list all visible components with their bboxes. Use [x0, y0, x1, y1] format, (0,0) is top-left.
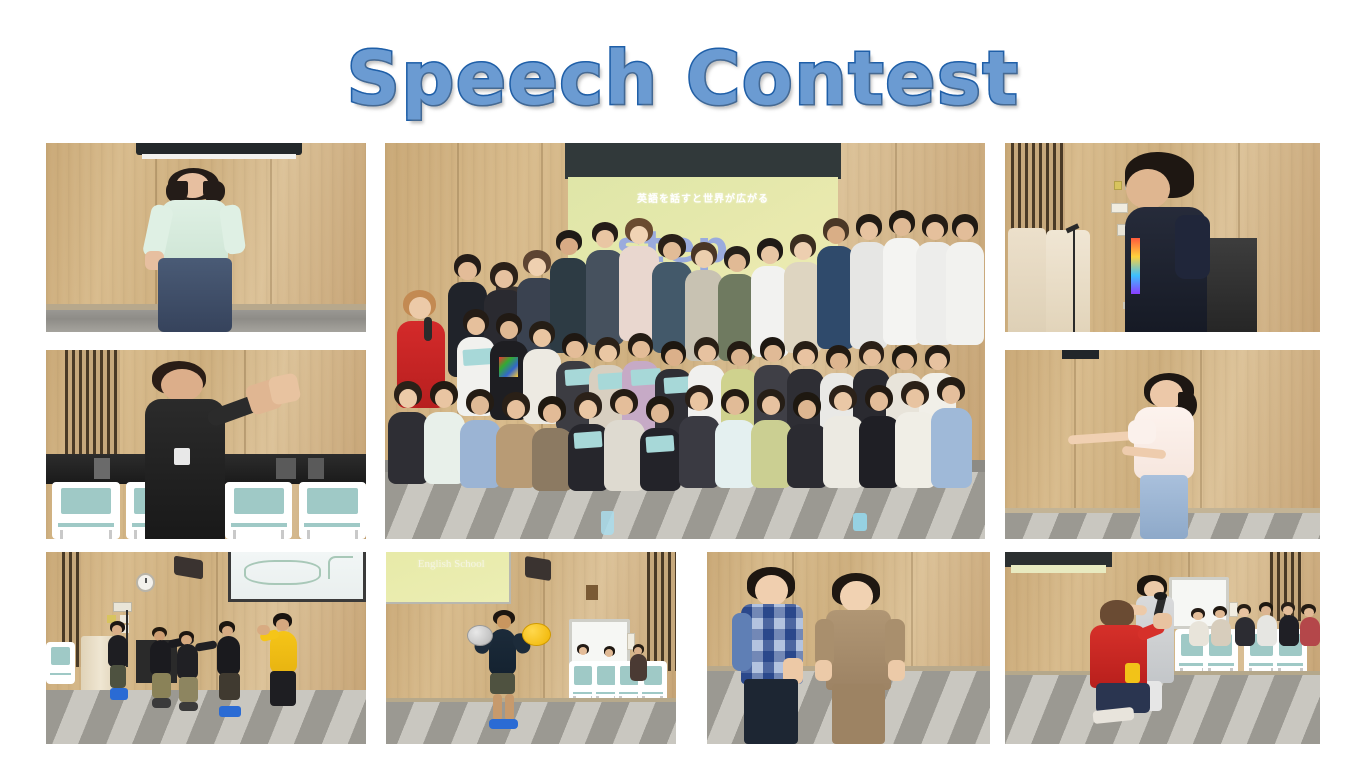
photo-girl-speaking-left[interactable]	[46, 143, 366, 332]
water-bottle	[853, 513, 867, 531]
page-title-container: Speech Contest	[0, 42, 1366, 116]
photo-girl-arms-out-right[interactable]	[1005, 350, 1320, 539]
projector-screen-frame	[565, 143, 841, 179]
page-title: Speech Contest	[347, 42, 1020, 116]
microphone-icon	[424, 317, 432, 341]
chair	[225, 482, 292, 539]
photo-two-young-boys[interactable]	[707, 552, 990, 744]
slide-subtitle-fragment: English School	[386, 558, 517, 570]
water-bottle	[601, 511, 614, 535]
photo-collage-page: Speech Contest	[0, 0, 1366, 768]
photo-boy-profile-right[interactable]	[1005, 143, 1320, 332]
photo-teacher-with-microphone[interactable]	[1005, 552, 1320, 744]
chair	[46, 642, 75, 684]
speaker-box-icon	[525, 556, 551, 581]
photo-boy-with-props[interactable]: English School	[386, 552, 676, 744]
photo-boy-gesturing-left[interactable]	[46, 350, 366, 539]
chair	[52, 482, 119, 539]
wall-clock-icon	[136, 573, 155, 592]
photo-group-center[interactable]: 英語を話すと世界が広がる step English School	[385, 143, 985, 539]
photo-five-boys-performing[interactable]	[46, 552, 366, 744]
slide-tagline-japanese: 英語を話すと世界が広がる	[568, 190, 838, 205]
award-card	[462, 348, 493, 366]
chair	[299, 482, 366, 539]
